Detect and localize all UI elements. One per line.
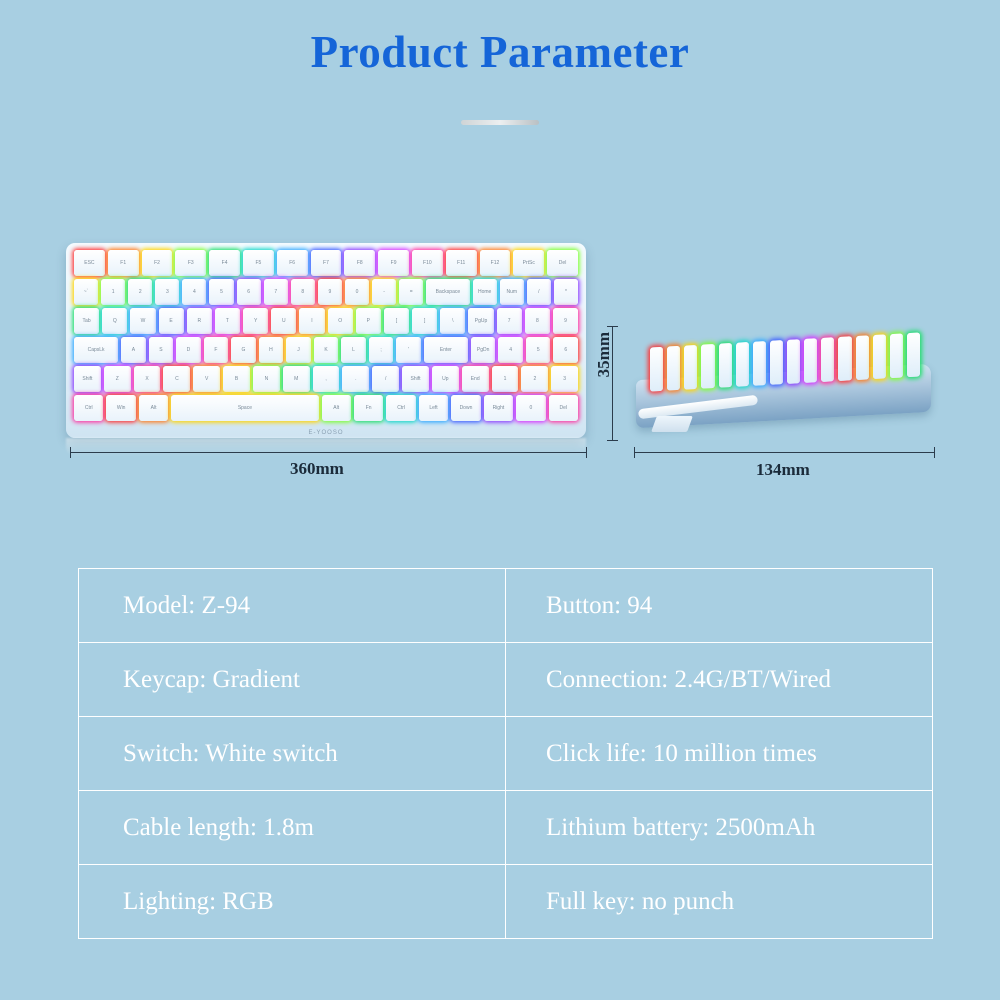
keycap: PrtSc (513, 250, 544, 276)
side-view-keycap (736, 342, 749, 387)
dimension-label-height-35: 35mm (594, 332, 614, 377)
keycap-label: ] (424, 319, 425, 324)
keycap-label: H (269, 348, 273, 353)
keycap-label: 4 (193, 290, 196, 295)
keycap-label: F1 (120, 261, 126, 266)
keycap-label: 1 (504, 377, 507, 382)
keycap: Num (500, 279, 524, 305)
keycap-label: F (214, 348, 217, 353)
keycap-label: Tab (83, 319, 91, 324)
keycap: Alt (322, 395, 351, 421)
keycap: End (462, 366, 489, 392)
keycap-label: Alt (333, 406, 339, 411)
spec-cell-left: Switch: White switch (79, 717, 506, 791)
keycap: Del (547, 250, 578, 276)
keycap-label: W (141, 319, 146, 324)
keycap-label: 0 (356, 290, 359, 295)
side-view-keycap (838, 336, 851, 381)
keycap-label: F11 (457, 261, 465, 266)
dimension-tick-right-360 (586, 447, 587, 458)
keycap: 8 (525, 308, 550, 334)
side-view-keycap (650, 347, 663, 392)
keycap: ' (396, 337, 421, 363)
keycap-label: 8 (301, 290, 304, 295)
keycap: K (314, 337, 339, 363)
keycap: Ctrl (386, 395, 415, 421)
keycap: 7 (497, 308, 522, 334)
keyboard-reflection (66, 438, 586, 456)
keycap-label: Right (493, 406, 505, 411)
keycap: 4 (498, 337, 523, 363)
keycap: F4 (209, 250, 240, 276)
keycap: O (328, 308, 353, 334)
keycap-label: Num (506, 290, 517, 295)
spec-cell-left: Model: Z-94 (79, 569, 506, 643)
keycap: Z (104, 366, 131, 392)
keycap-label: F9 (391, 261, 397, 266)
keycap: M (283, 366, 310, 392)
keycap: 6 (553, 337, 578, 363)
keycap: A (121, 337, 146, 363)
keycap-label: / (385, 377, 386, 382)
keycap: F10 (412, 250, 443, 276)
keycap-label: 2 (533, 377, 536, 382)
keycap: 6 (237, 279, 261, 305)
table-row: Model: Z-94Button: 94 (79, 569, 933, 643)
keycap: Right (484, 395, 513, 421)
side-view-keycap (684, 345, 697, 390)
keycap-label: S (159, 348, 162, 353)
keycap: L (341, 337, 366, 363)
keycap: . (342, 366, 369, 392)
keycap-label: * (565, 290, 567, 295)
keycap-label: 3 (166, 290, 169, 295)
specifications-table: Model: Z-94Button: 94Keycap: GradientCon… (78, 568, 933, 939)
dimension-tick-bottom-35 (607, 440, 618, 441)
table-row: Lighting: RGB Full key: no punch (79, 865, 933, 939)
keycap: V (193, 366, 220, 392)
keycap-label: 5 (220, 290, 223, 295)
keycap-label: T (226, 319, 229, 324)
keycap-label: 6 (564, 348, 567, 353)
keycap-label: = (410, 290, 413, 295)
keycap-label: Del (559, 261, 567, 266)
keycap: Ctrl (74, 395, 103, 421)
keycap: Home (473, 279, 497, 305)
keycap: PgDn (471, 337, 496, 363)
keycap: N (253, 366, 280, 392)
keycap: F12 (480, 250, 511, 276)
keycap: / (527, 279, 551, 305)
keycap-label: / (538, 290, 539, 295)
dimension-tick-right-134 (934, 447, 935, 458)
keycap-label: Win (117, 406, 126, 411)
brand-logo-text: E-YOOSO (66, 430, 586, 436)
keycap: 5 (526, 337, 551, 363)
keycap-label: Home (478, 290, 491, 295)
keycap-label: C (175, 377, 179, 382)
keycap-label: F7 (323, 261, 329, 266)
keycap-label: . (355, 377, 356, 382)
keycap-label: E (169, 319, 172, 324)
keycap: 5 (209, 279, 233, 305)
keycap-label: [ (396, 319, 397, 324)
keycap-label: A (132, 348, 135, 353)
keycap-label: 7 (274, 290, 277, 295)
keycap: C (163, 366, 190, 392)
keycap: * (554, 279, 578, 305)
keycap-label: P (367, 319, 370, 324)
keycap-label: 2 (139, 290, 142, 295)
keycap-label: Y (254, 319, 257, 324)
keycap-label: Del (560, 406, 568, 411)
keycap-label: 3 (563, 377, 566, 382)
keycap-label: U (282, 319, 286, 324)
keycap: R (187, 308, 212, 334)
keycap: G (231, 337, 256, 363)
keyboard-top-view-image: ESCF1F2F3F4F5F6F7F8F9F10F11F12PrtScDel~`… (66, 243, 586, 438)
keycap: F (204, 337, 229, 363)
side-view-keycap (873, 334, 886, 379)
page-title: Product Parameter (0, 26, 1000, 78)
keycap-label: X (145, 377, 148, 382)
keyboard-row: ESCF1F2F3F4F5F6F7F8F9F10F11F12PrtScDel (74, 250, 578, 276)
keyboard-row: ShiftZXCVBNM,./ShiftUpEnd123 (74, 366, 578, 392)
keycap: J (286, 337, 311, 363)
keycap: , (313, 366, 340, 392)
spec-cell-right: Connection: 2.4G/BT/Wired (506, 643, 933, 717)
spec-cell-right: Button: 94 (506, 569, 933, 643)
keycap: Fn (354, 395, 383, 421)
keycap-label: F12 (491, 261, 500, 266)
keycap: F3 (175, 250, 206, 276)
keycap: H (259, 337, 284, 363)
keycap-label: ESC (84, 261, 94, 266)
keycap-label: F10 (423, 261, 432, 266)
spec-cell-right: Full key: no punch (506, 865, 933, 939)
keycap: Enter (424, 337, 468, 363)
side-view-keycap (770, 340, 783, 385)
keycap: 9 (318, 279, 342, 305)
keycap: 8 (291, 279, 315, 305)
keycap-label: F2 (154, 261, 160, 266)
keycap: 1 (101, 279, 125, 305)
keycap: Shift (402, 366, 429, 392)
keycap: T (215, 308, 240, 334)
table-row: Switch: White switchClick life: 10 milli… (79, 717, 933, 791)
keycap-label: Shift (411, 377, 421, 382)
keycap: U (271, 308, 296, 334)
keycap: 2 (128, 279, 152, 305)
keycap-label: - (383, 290, 385, 295)
keycap-label: Space (238, 406, 252, 411)
keycap: Up (432, 366, 459, 392)
side-view-keycap (907, 332, 920, 377)
keycap: 0 (345, 279, 369, 305)
keycap-label: 6 (247, 290, 250, 295)
keycap-label: Up (442, 377, 448, 382)
keycap: 9 (553, 308, 578, 334)
keycap: PgUp (468, 308, 493, 334)
keycap: 1 (492, 366, 519, 392)
keycap: Backspace (426, 279, 469, 305)
keycap-label: R (197, 319, 201, 324)
keycap: F1 (108, 250, 139, 276)
keycap: Q (102, 308, 127, 334)
keycap: 7 (264, 279, 288, 305)
keycap-label: Left (429, 406, 437, 411)
side-view-keycap (821, 337, 834, 382)
dimension-tick-top-35 (607, 326, 618, 327)
side-view-keycap (753, 341, 766, 386)
spec-cell-right: Lithium battery: 2500mAh (506, 791, 933, 865)
keycap-label: N (265, 377, 269, 382)
keycap: E (159, 308, 184, 334)
keycap-label: ' (408, 348, 409, 353)
keycap: 2 (521, 366, 548, 392)
side-view-keycap (804, 338, 817, 383)
keycap: 3 (551, 366, 578, 392)
keycap: 3 (155, 279, 179, 305)
keycap: Left (419, 395, 448, 421)
keycap-label: PrtSc (523, 261, 535, 266)
keycap-label: End (471, 377, 480, 382)
keycap-label: M (294, 377, 298, 382)
dimension-label-width-134: 134mm (756, 460, 810, 480)
keycap: ; (369, 337, 394, 363)
keycap-label: 9 (329, 290, 332, 295)
keycap: F9 (378, 250, 409, 276)
keycap: D (176, 337, 201, 363)
spec-cell-left: Cable length: 1.8m (79, 791, 506, 865)
keycap: Shift (74, 366, 101, 392)
keyboard-row: TabQWERTYUIOP[]\PgUp789 (74, 308, 578, 334)
keycap-label: CapsLk (88, 348, 105, 353)
dimension-tick-left-360 (70, 447, 71, 458)
side-view-keycap (787, 339, 800, 384)
keycap: ] (412, 308, 437, 334)
dimension-label-width-360: 360mm (290, 459, 344, 479)
keycap-label: V (205, 377, 208, 382)
spec-cell-right: Click life: 10 million times (506, 717, 933, 791)
keycap: P (356, 308, 381, 334)
keycap-label: PgUp (475, 319, 488, 324)
keycap: Win (106, 395, 135, 421)
keycap: Down (451, 395, 480, 421)
keycap-label: 1 (112, 290, 115, 295)
keycap: ~` (74, 279, 98, 305)
keycap-label: Backspace (436, 290, 460, 295)
keycap-label: Down (460, 406, 473, 411)
keycap-label: 0 (529, 406, 532, 411)
keycap-label: , (325, 377, 326, 382)
keycap: F8 (344, 250, 375, 276)
dimension-tick-left-134 (634, 447, 635, 458)
keycap-label: I (311, 319, 312, 324)
keycap: = (399, 279, 423, 305)
keycap-label: 5 (537, 348, 540, 353)
side-view-keycap (701, 344, 714, 389)
title-divider (461, 120, 539, 125)
dimension-line-360 (70, 452, 586, 453)
keycap-label: PgDn (477, 348, 490, 353)
keycap-label: Ctrl (397, 406, 405, 411)
keycap: Y (243, 308, 268, 334)
keycap: F7 (311, 250, 342, 276)
keycap: Del (549, 395, 578, 421)
keycap-label: Ctrl (85, 406, 93, 411)
keycap: \ (440, 308, 465, 334)
keyboard-row: CapsLkASDFGHJKL;'EnterPgDn456 (74, 337, 578, 363)
keycap: F11 (446, 250, 477, 276)
keycap-label: F6 (289, 261, 295, 266)
keycap: S (149, 337, 174, 363)
keycap-label: 8 (536, 319, 539, 324)
spec-cell-left: Keycap: Gradient (79, 643, 506, 717)
keycap-label: F5 (255, 261, 261, 266)
side-view-foot (651, 416, 693, 432)
keycap: Space (171, 395, 318, 421)
side-view-keycap (856, 335, 869, 380)
keyboard-side-view-image (636, 316, 936, 436)
side-view-keycap (719, 343, 732, 388)
keycap: - (372, 279, 396, 305)
keycap: [ (384, 308, 409, 334)
keycap: ESC (74, 250, 105, 276)
keycap: X (134, 366, 161, 392)
keycap: 4 (182, 279, 206, 305)
keycap-label: B (235, 377, 238, 382)
keycap-label: ; (380, 348, 381, 353)
keycap: F2 (142, 250, 173, 276)
keycap-label: Fn (366, 406, 372, 411)
keycap-label: O (338, 319, 342, 324)
product-parameter-page: Product Parameter ESCF1F2F3F4F5F6F7F8F9F… (0, 0, 1000, 1000)
keycap: 0 (516, 395, 545, 421)
keycap-label: Alt (151, 406, 157, 411)
keycap-label: Q (113, 319, 117, 324)
keycap-label: ~` (84, 290, 89, 295)
keycap-label: F4 (222, 261, 228, 266)
keycap-label: Z (116, 377, 119, 382)
keycap-label: L (352, 348, 355, 353)
keycap-label: F8 (357, 261, 363, 266)
keycap: CapsLk (74, 337, 118, 363)
keycap: F6 (277, 250, 308, 276)
keycap-label: 4 (509, 348, 512, 353)
keycap: F5 (243, 250, 274, 276)
keycap-label: Shift (82, 377, 92, 382)
keycap-label: 9 (564, 319, 567, 324)
keyboard-row: CtrlWinAltSpaceAltFnCtrlLeftDownRight0De… (74, 395, 578, 421)
keycap-label: D (187, 348, 191, 353)
keycap-label: \ (452, 319, 453, 324)
keycap-label: K (324, 348, 327, 353)
keycap: / (372, 366, 399, 392)
keycap-label: Enter (440, 348, 452, 353)
keycap: W (130, 308, 155, 334)
keyboard-row: ~`1234567890-=BackspaceHomeNum/* (74, 279, 578, 305)
table-row: Keycap: GradientConnection: 2.4G/BT/Wire… (79, 643, 933, 717)
table-row: Cable length: 1.8mLithium battery: 2500m… (79, 791, 933, 865)
keycap: Tab (74, 308, 99, 334)
keycap-label: F3 (188, 261, 194, 266)
spec-cell-left: Lighting: RGB (79, 865, 506, 939)
keycap: B (223, 366, 250, 392)
keycap-label: J (297, 348, 300, 353)
dimension-line-134 (634, 452, 934, 453)
keycap: Alt (139, 395, 168, 421)
keycap-label: G (242, 348, 246, 353)
side-view-keycap (667, 346, 680, 391)
keycap-label: 7 (508, 319, 511, 324)
keycap: I (299, 308, 324, 334)
side-view-keycap (890, 333, 903, 378)
